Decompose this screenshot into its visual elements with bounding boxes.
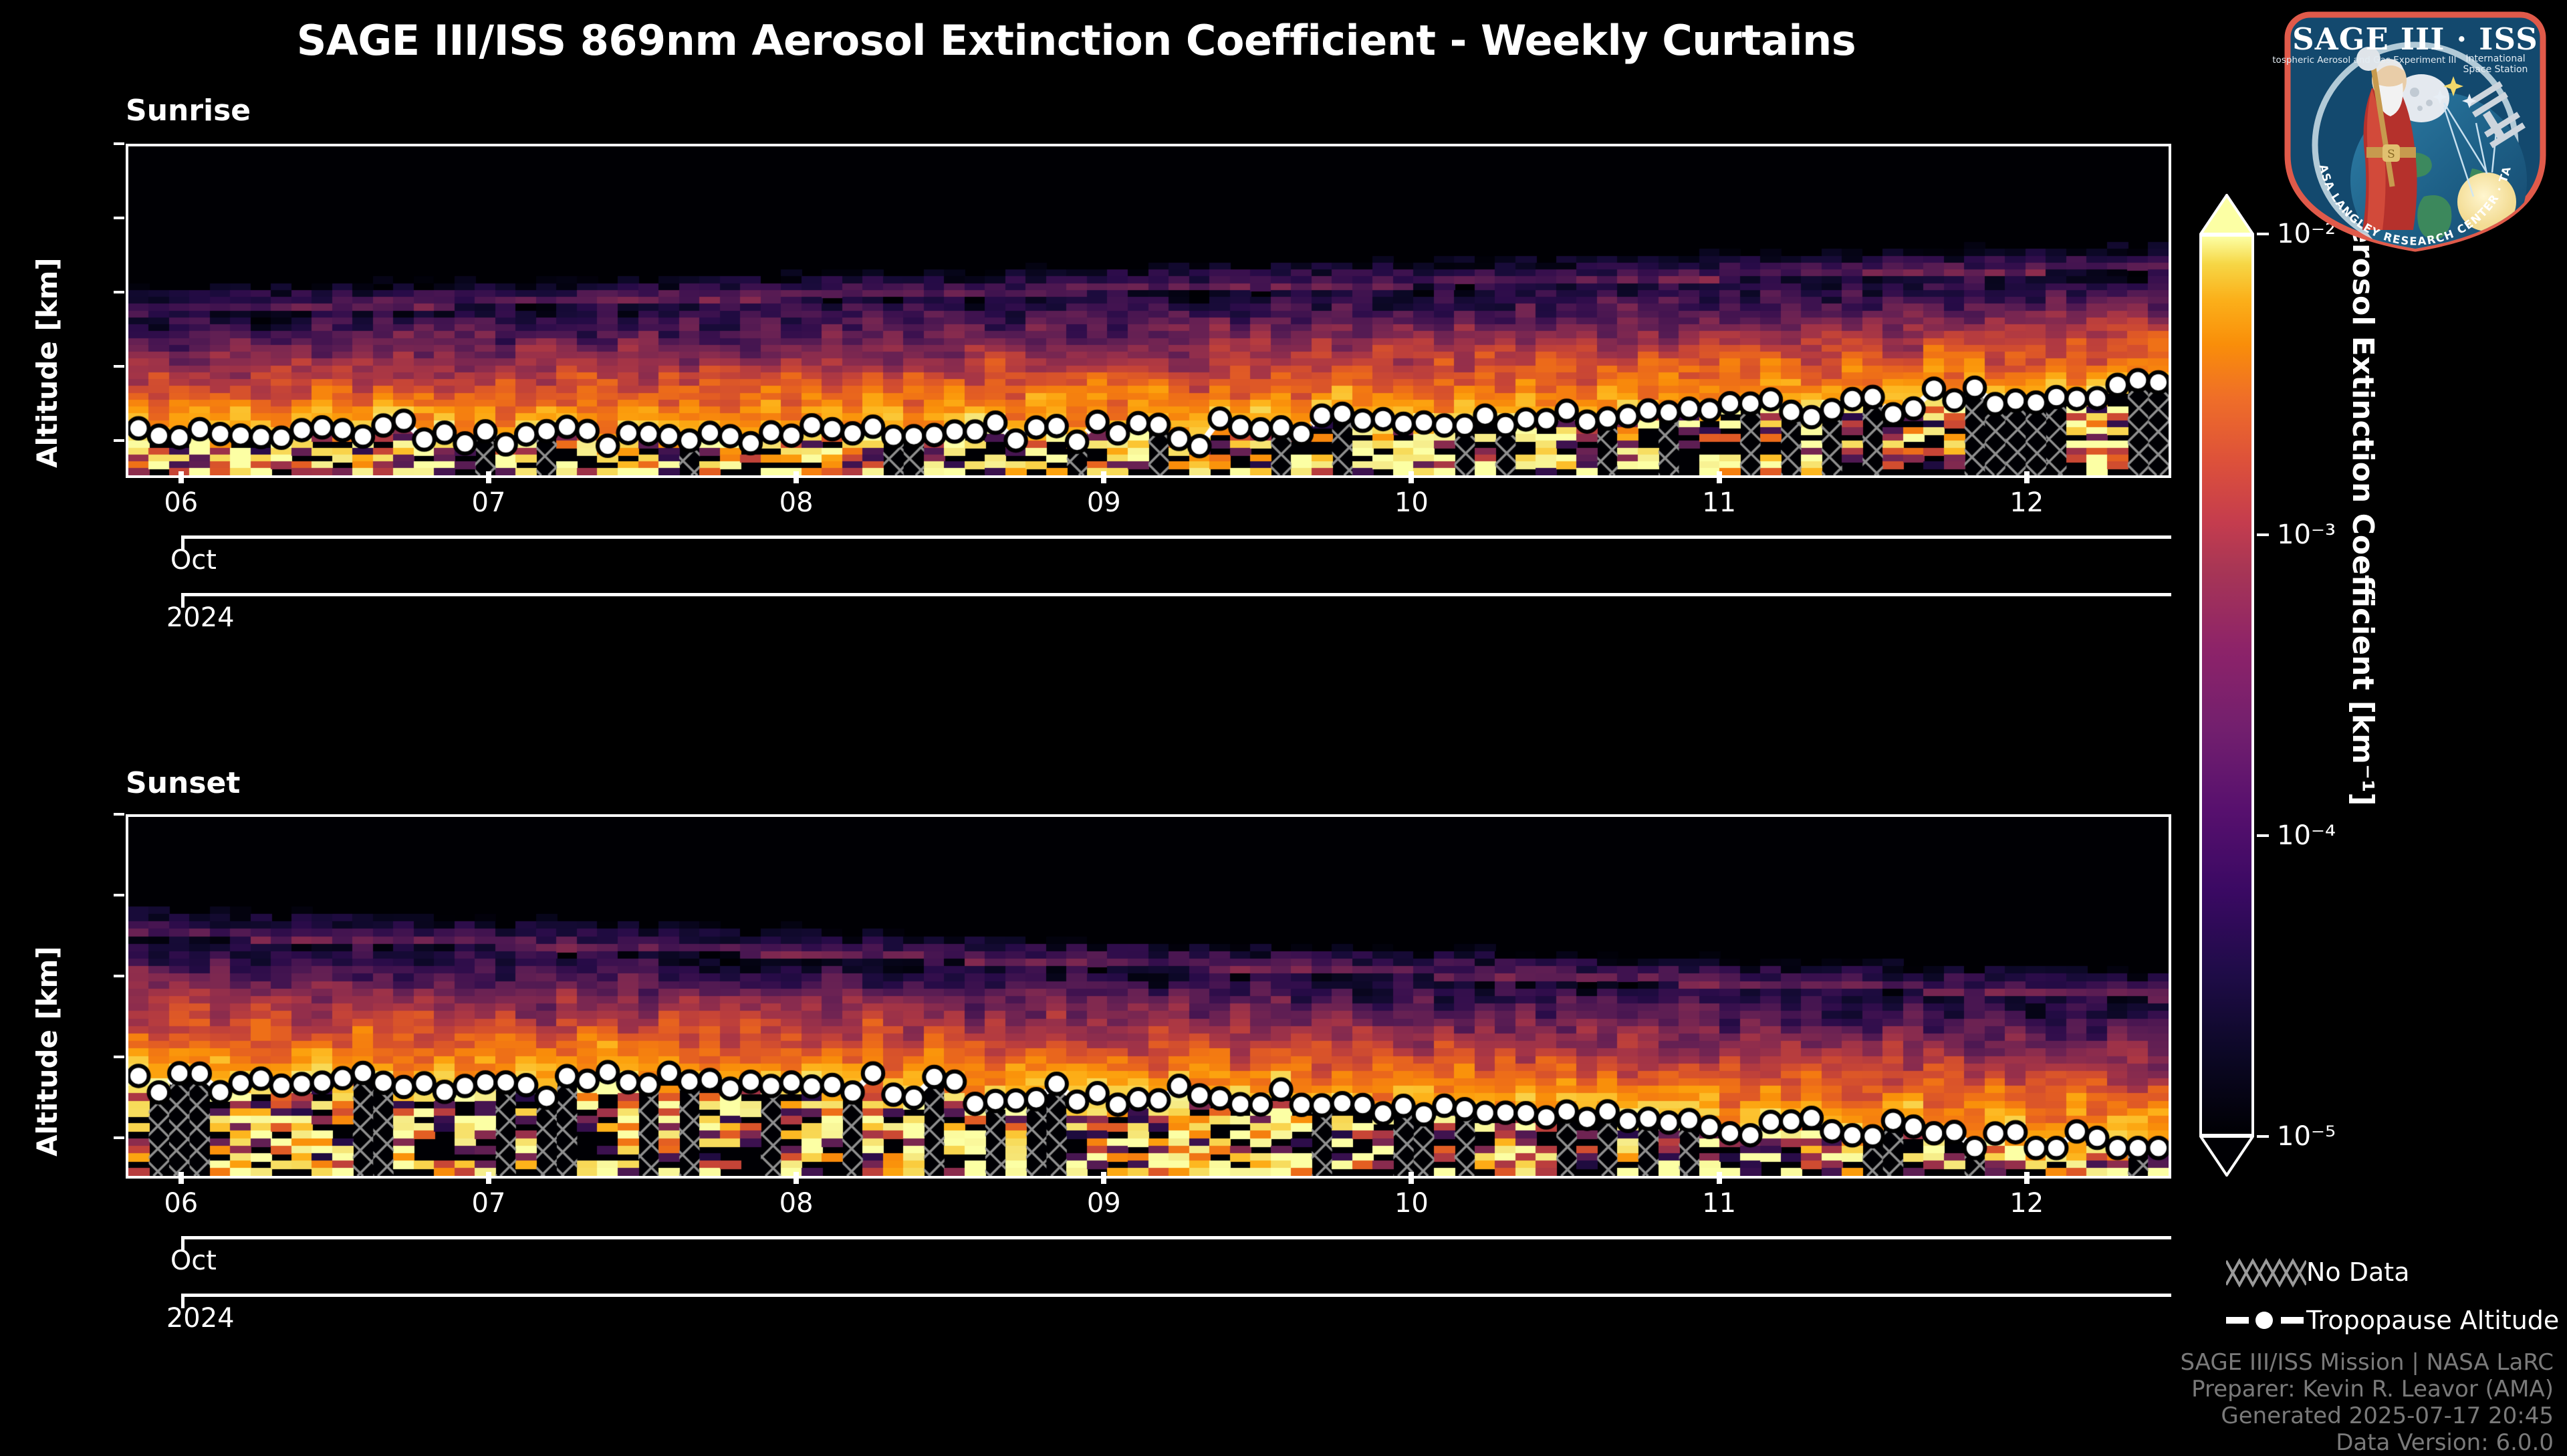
colorbar-extend-max-arrow bbox=[2199, 194, 2254, 235]
x-tick-mark bbox=[178, 471, 184, 483]
logo-title-text: SAGE III · ISS bbox=[2292, 21, 2538, 57]
footer-credits: SAGE III/ISS Mission | NASA LaRC Prepare… bbox=[1899, 1349, 2554, 1456]
sage-iii-iss-mission-patch-logo: S SAGE III · ISS Stratospheric Aerosol a… bbox=[2272, 1, 2559, 262]
x-axis-year-label: 2024 bbox=[166, 602, 235, 633]
x-tick-mark bbox=[793, 1172, 799, 1184]
x-tick-label: 07 bbox=[442, 1188, 535, 1219]
x-axis-sunset: 06070809101112Oct2024 bbox=[0, 769, 2567, 1444]
x-axis-month-label: Oct bbox=[170, 545, 217, 576]
legend-label-tropopause: Tropopause Altitude bbox=[2306, 1306, 2559, 1335]
x-tick-mark bbox=[1101, 471, 1106, 483]
footer-line-mission: SAGE III/ISS Mission | NASA LaRC bbox=[1899, 1349, 2554, 1376]
x-axis-month-label: Oct bbox=[170, 1245, 217, 1276]
x-tick-mark bbox=[178, 1172, 184, 1184]
x-tick-mark bbox=[1409, 471, 1414, 483]
x-tick-mark bbox=[1717, 1172, 1722, 1184]
colorbar-tick-mark bbox=[2257, 233, 2269, 235]
x-axis-year-label: 2024 bbox=[166, 1303, 235, 1334]
legend-item-tropopause: Tropopause Altitude bbox=[2226, 1305, 2567, 1336]
x-tick-label: 12 bbox=[1980, 1188, 2074, 1219]
x-tick-label: 10 bbox=[1364, 487, 1458, 518]
colorbar-gradient bbox=[2199, 234, 2254, 1136]
colorbar-tick-mark bbox=[2257, 834, 2269, 837]
colorbar-tick-label: 10⁻⁴ bbox=[2277, 820, 2336, 851]
x-tick-mark bbox=[2024, 1172, 2030, 1184]
x-axis-year-rule bbox=[181, 1294, 2171, 1297]
x-tick-mark bbox=[793, 471, 799, 483]
x-tick-mark bbox=[2024, 471, 2030, 483]
x-tick-mark bbox=[486, 471, 491, 483]
x-tick-mark bbox=[486, 1172, 491, 1184]
x-tick-mark bbox=[1101, 1172, 1106, 1184]
x-tick-label: 06 bbox=[134, 1188, 228, 1219]
x-tick-label: 09 bbox=[1057, 487, 1150, 518]
colorbar[interactable]: 10⁻²10⁻³10⁻⁴10⁻⁵ bbox=[2199, 194, 2254, 1177]
x-tick-label: 10 bbox=[1364, 1188, 1458, 1219]
x-tick-mark bbox=[1409, 1172, 1414, 1184]
colorbar-tick-mark bbox=[2257, 1135, 2269, 1138]
x-tick-label: 08 bbox=[749, 487, 843, 518]
x-axis-month-rule bbox=[181, 1236, 2171, 1239]
svg-text:S: S bbox=[2387, 148, 2395, 161]
colorbar-tick-mark bbox=[2257, 533, 2269, 536]
x-tick-mark bbox=[1717, 471, 1722, 483]
footer-line-preparer: Preparer: Kevin R. Leavor (AMA) bbox=[1899, 1376, 2554, 1403]
x-tick-label: 09 bbox=[1057, 1188, 1150, 1219]
hatch-x-icon bbox=[2226, 1257, 2306, 1288]
dashed-circle-icon bbox=[2226, 1305, 2306, 1336]
colorbar-extend-min-arrow bbox=[2199, 1135, 2254, 1177]
x-tick-label: 11 bbox=[1673, 487, 1766, 518]
colorbar-tick-label: 10⁻³ bbox=[2277, 519, 2336, 550]
colorbar-tick-label: 10⁻⁵ bbox=[2277, 1121, 2336, 1152]
legend-item-no-data: No Data bbox=[2226, 1257, 2567, 1288]
legend: No Data Tropopause Altitude bbox=[2226, 1257, 2567, 1353]
logo-caption-left: Stratospheric Aerosol and Gas Experiment… bbox=[2272, 55, 2456, 66]
x-axis-year-rule bbox=[181, 593, 2171, 596]
x-tick-label: 07 bbox=[442, 487, 535, 518]
x-axis-month-rule bbox=[181, 535, 2171, 539]
footer-line-version: Data Version: 6.0.0 bbox=[1899, 1429, 2554, 1456]
x-tick-label: 12 bbox=[1980, 487, 2074, 518]
footer-line-generated: Generated 2025-07-17 20:45 bbox=[1899, 1403, 2554, 1429]
logo-caption-right-1: International bbox=[2465, 53, 2525, 64]
legend-label-no-data: No Data bbox=[2306, 1257, 2410, 1287]
colorbar-title: Aerosol Extinction Coefficient [km⁻¹] bbox=[2346, 201, 2380, 806]
x-tick-label: 06 bbox=[134, 487, 228, 518]
x-tick-label: 11 bbox=[1673, 1188, 1766, 1219]
x-tick-label: 08 bbox=[749, 1188, 843, 1219]
logo-caption-right-2: Space Station bbox=[2463, 64, 2528, 75]
x-axis-sunrise: 06070809101112Oct2024 bbox=[0, 0, 2567, 769]
